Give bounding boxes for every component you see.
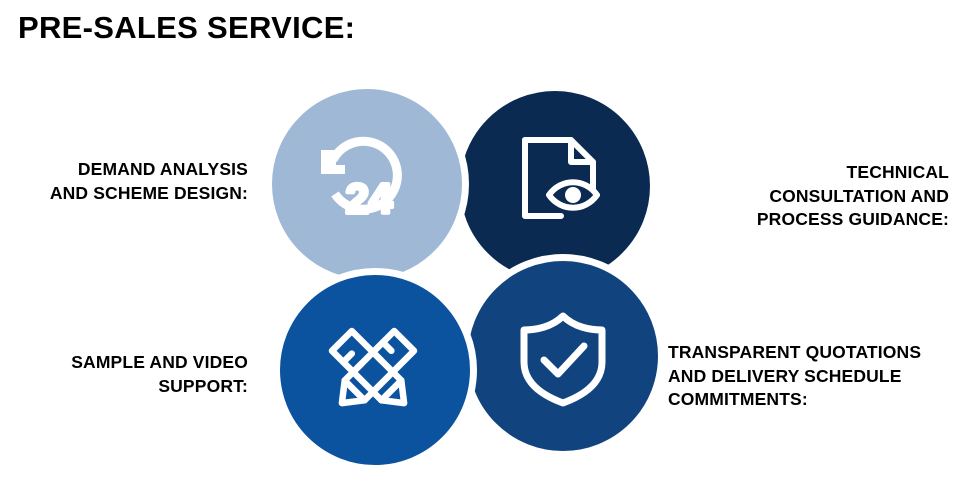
- crossed-pencil-ruler-icon: [318, 317, 428, 427]
- circle-cluster: 24: [265, 82, 685, 492]
- node-label-transparent: TRANSPARENT QUOTATIONS AND DELIVERY SCHE…: [668, 341, 960, 412]
- shield-check-icon: [508, 303, 618, 413]
- node-label-technical: TECHNICAL CONSULTATION AND PROCESS GUIDA…: [727, 161, 949, 232]
- node-circle-transparent[interactable]: [461, 254, 665, 458]
- node-circle-sample[interactable]: [273, 268, 477, 472]
- node-label-sample: SAMPLE AND VIDEO SUPPORT:: [0, 351, 248, 398]
- page-title: PRE-SALES SERVICE:: [18, 11, 355, 45]
- document-eye-icon: [504, 125, 614, 235]
- node-label-demand: DEMAND ANALYSIS AND SCHEME DESIGN:: [0, 158, 248, 205]
- 24-hour-rotate-icon: 24: [310, 125, 420, 235]
- svg-text:24: 24: [346, 175, 393, 222]
- node-circle-demand[interactable]: 24: [265, 82, 469, 286]
